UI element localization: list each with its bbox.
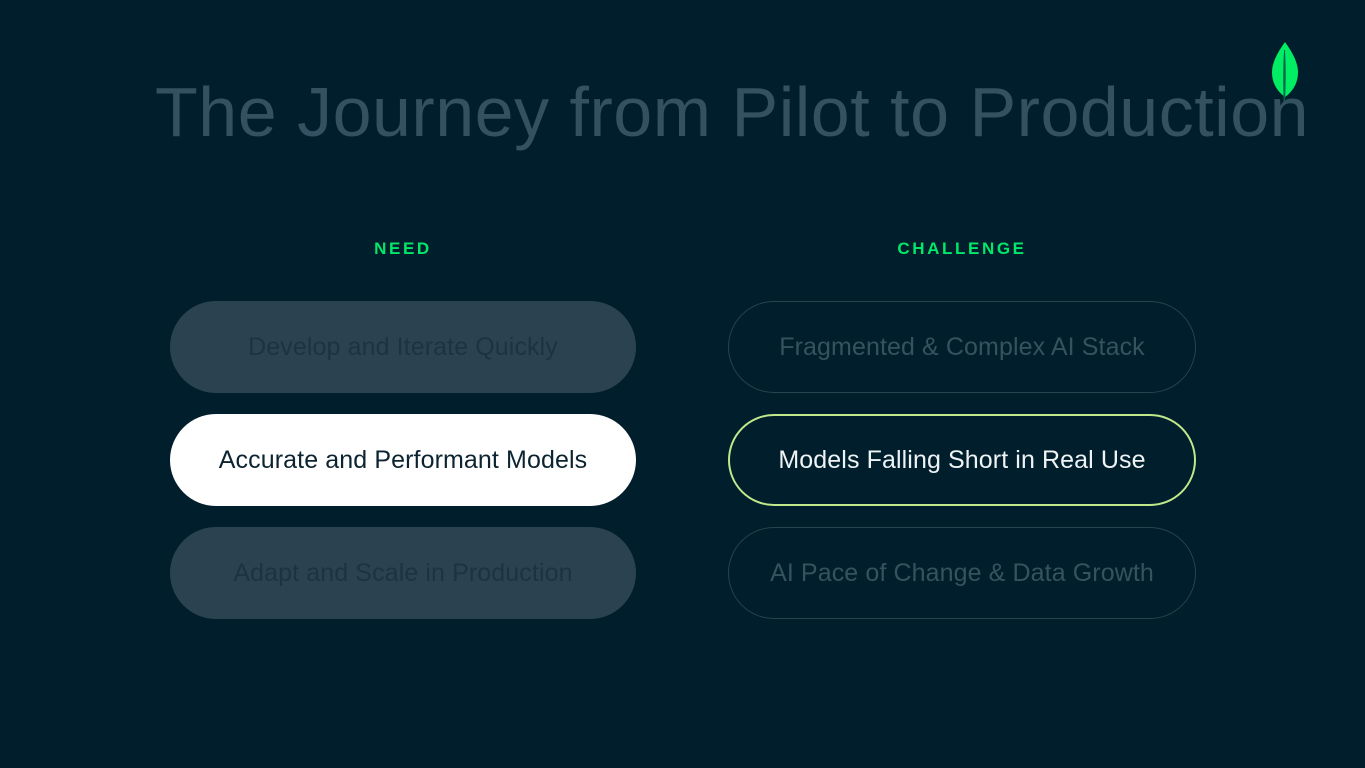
challenge-pill-2-highlighted[interactable]: Models Falling Short in Real Use (728, 414, 1196, 506)
challenge-pill-1[interactable]: Fragmented & Complex AI Stack (728, 301, 1196, 393)
challenge-pill-3[interactable]: AI Pace of Change & Data Growth (728, 527, 1196, 619)
column-challenge: CHALLENGE Fragmented & Complex AI Stack … (728, 238, 1196, 619)
column-header-challenge: CHALLENGE (728, 238, 1196, 274)
pill-stack-need: Develop and Iterate Quickly Accurate and… (170, 301, 636, 619)
need-pill-3[interactable]: Adapt and Scale in Production (170, 527, 636, 619)
need-pill-1[interactable]: Develop and Iterate Quickly (170, 301, 636, 393)
column-header-need: NEED (170, 238, 636, 274)
pill-stack-challenge: Fragmented & Complex AI Stack Models Fal… (728, 301, 1196, 619)
presentation-slide: The Journey from Pilot to Production NEE… (0, 0, 1365, 768)
page-title: The Journey from Pilot to Production (155, 72, 1215, 152)
column-need: NEED Develop and Iterate Quickly Accurat… (170, 238, 636, 619)
need-pill-2-highlighted[interactable]: Accurate and Performant Models (170, 414, 636, 506)
